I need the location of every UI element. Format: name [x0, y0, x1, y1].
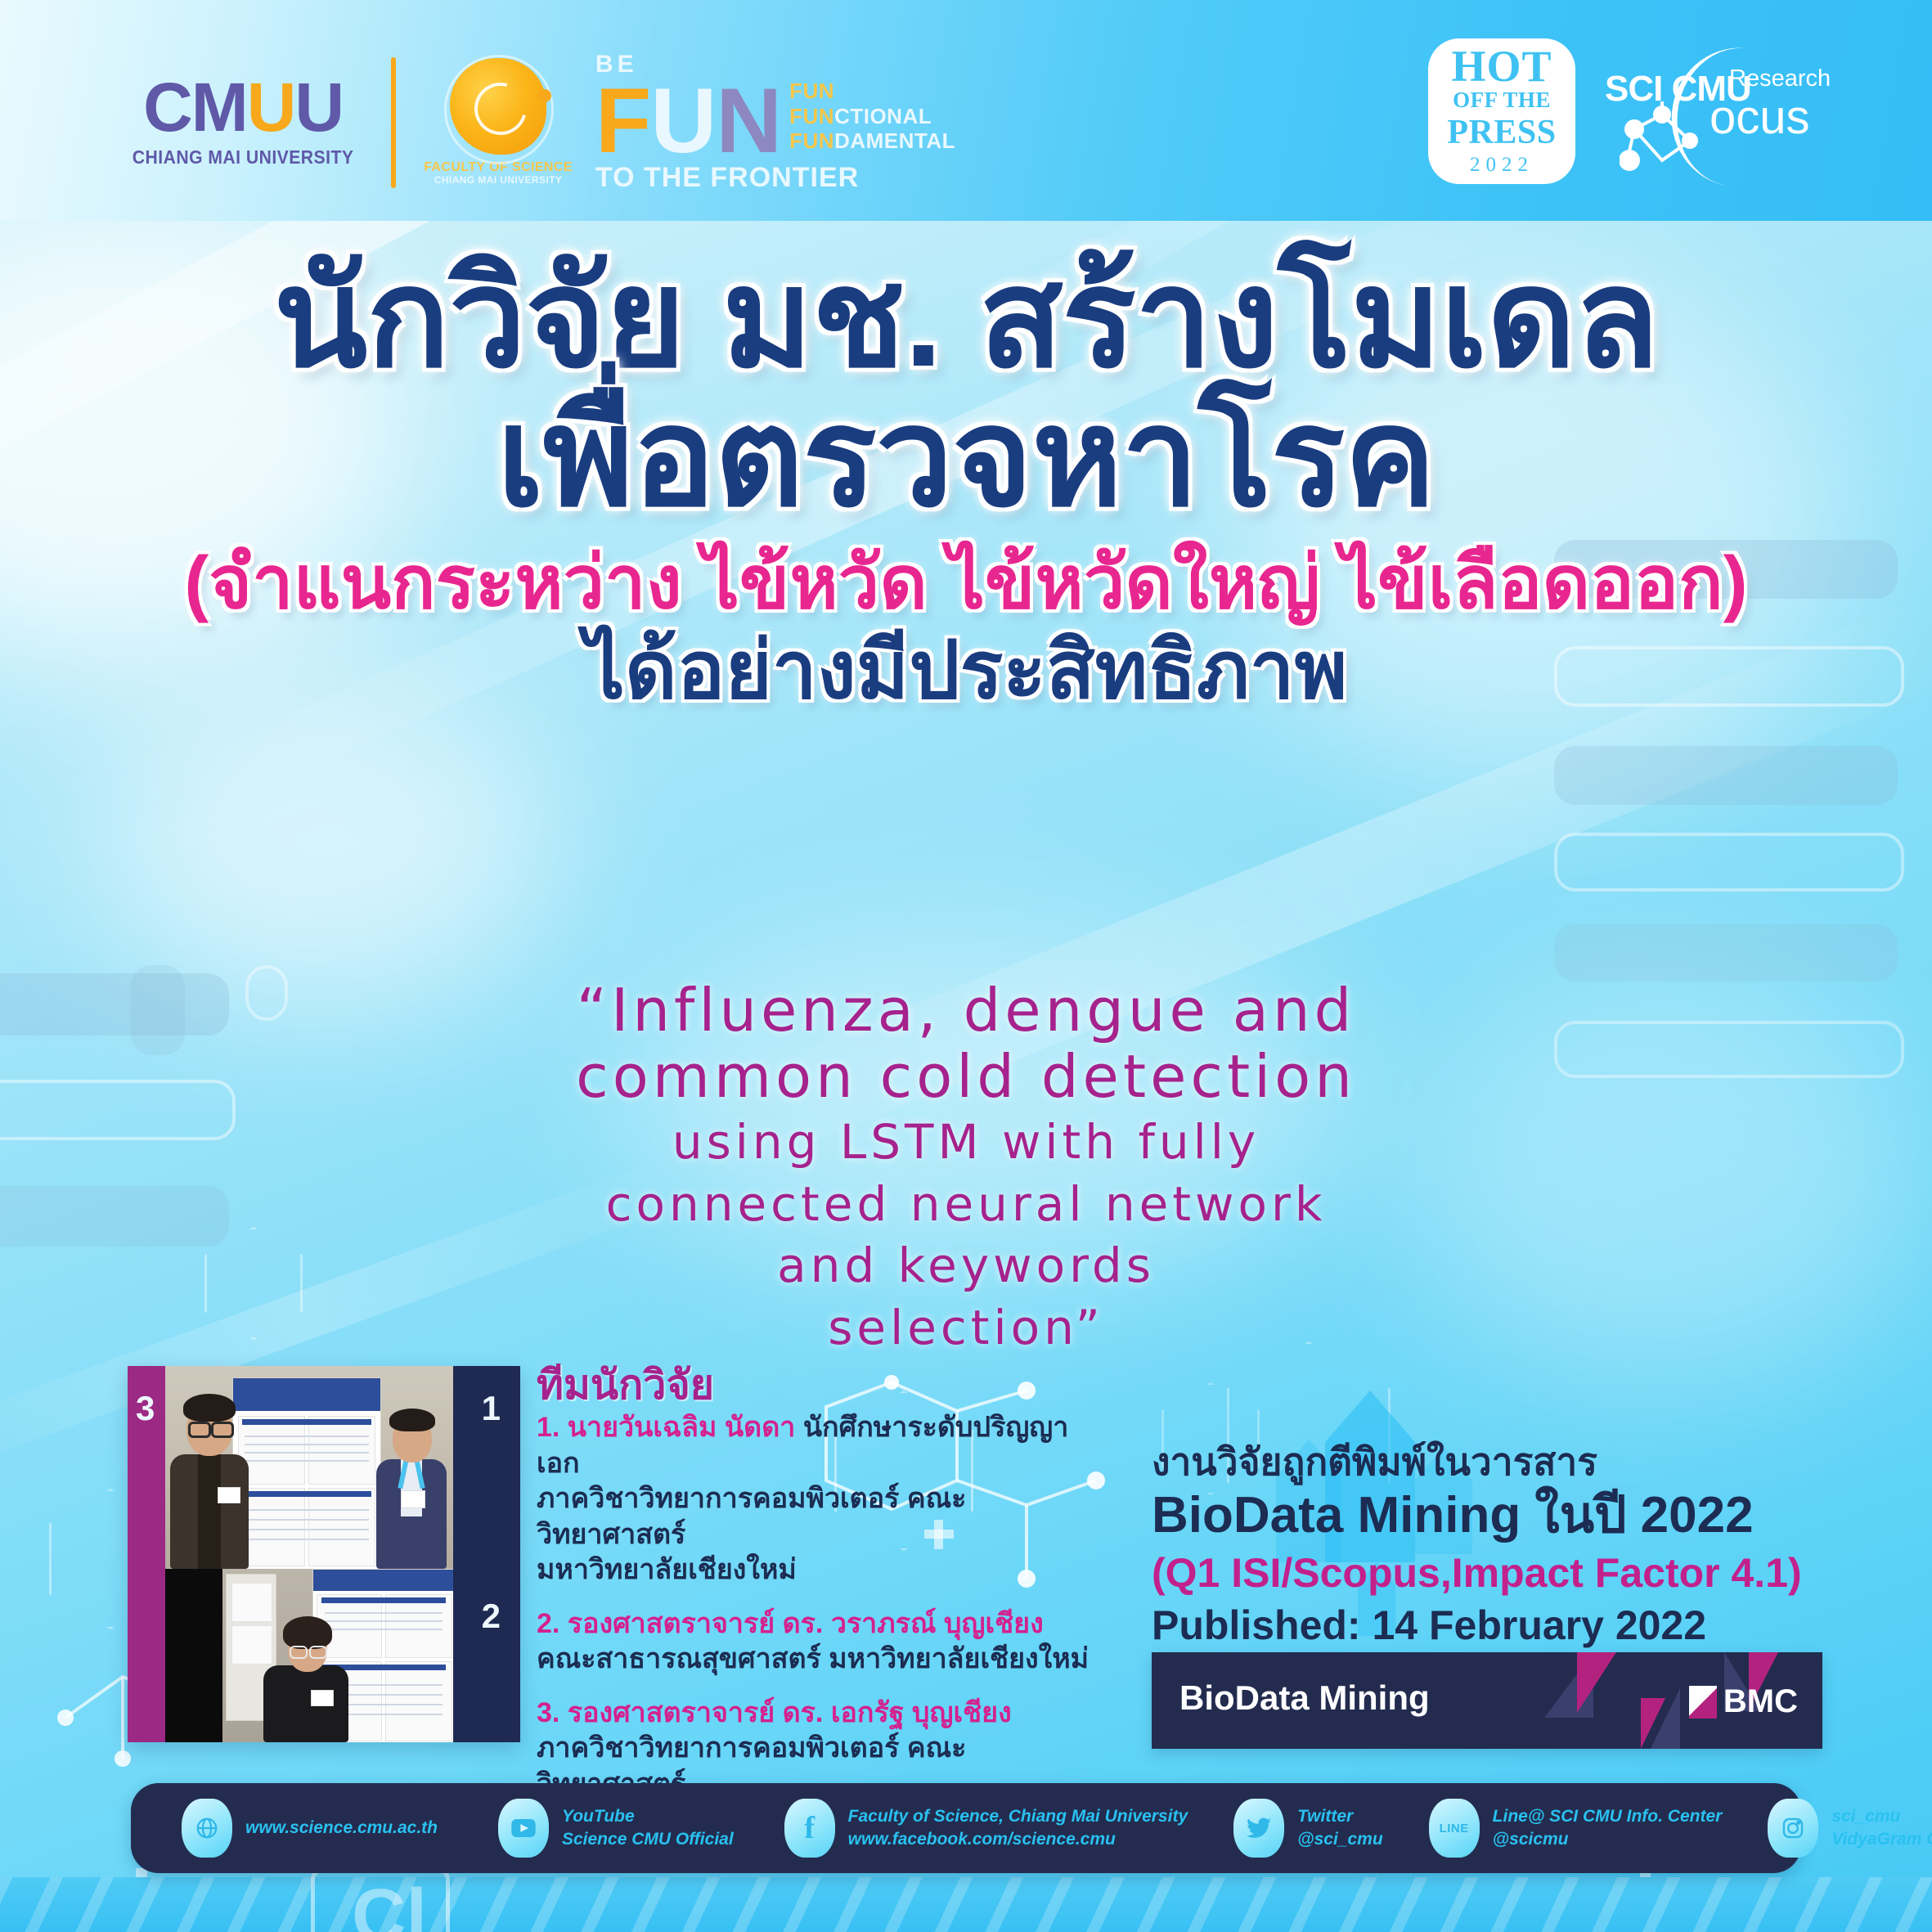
- poster-header: CMUU CHIANG MAI UNIVERSITY FACULTY OF SC…: [0, 0, 1932, 221]
- hot-line3: PRESS: [1447, 113, 1556, 152]
- journal-banner: BioData Mining BMC: [1152, 1652, 1822, 1749]
- line-text: Line@ SCI CMU Info. Center @scicmu: [1493, 1805, 1723, 1852]
- globe-icon: [182, 1799, 232, 1858]
- youtube-text: YouTube Science CMU Official: [562, 1805, 734, 1852]
- youtube-icon: [498, 1799, 549, 1858]
- paper-title-line-4: connected neural network: [0, 1176, 1932, 1233]
- paper-title-line-5: and keywords: [0, 1238, 1932, 1295]
- photo-researchers-1-and-3: [165, 1366, 453, 1569]
- bmc-mark-icon: [1689, 1686, 1717, 1719]
- journal-info-block: งานวิจัยถูกตีพิมพ์ในวารสาร BioData Minin…: [1152, 1440, 1822, 1650]
- member-1-name-role: 1. นายวันเฉลิม นัดดา นักศึกษาระดับปริญญา…: [537, 1410, 1093, 1481]
- journal-published-date: Published: 14 February 2022: [1152, 1601, 1822, 1650]
- orbit-dot-icon: [538, 89, 551, 102]
- cmu-logo: CMUU CHIANG MAI UNIVERSITY: [123, 76, 363, 168]
- member-2-affiliation-1: คณะสาธารณสุขศาสตร์ มหาวิทยาลัยเชียงใหม่: [537, 1642, 1093, 1678]
- footer-item-facebook[interactable]: f Faculty of Science, Chiang Mai Univers…: [784, 1799, 1188, 1858]
- paper-title-line-3: using LSTM with fully: [0, 1114, 1932, 1171]
- paper-title-english: “Influenza, dengue and common cold detec…: [0, 977, 1932, 1357]
- team-member-1: 1. นายวันเฉลิม นัดดา นักศึกษาระดับปริญญา…: [537, 1410, 1093, 1588]
- twitter-text: Twitter @sci_cmu: [1297, 1805, 1383, 1852]
- befun-tagline: TO THE FRONTIER: [595, 162, 955, 194]
- footer-item-line[interactable]: LINE Line@ SCI CMU Info. Center @scicmu: [1429, 1799, 1723, 1858]
- subtitle-pink: (จำแนกระหว่าง ไข้หวัด ไข้หวัดใหญ่ ไข้เลื…: [0, 543, 1932, 624]
- befun-logo: BE FUN FUN FUNCTIONAL FUNDAMENTAL TO THE…: [595, 51, 955, 194]
- headline-line-1: นักวิจัย มช. สร้างโมเดล: [273, 241, 1658, 395]
- journal-banner-name: BioData Mining: [1179, 1678, 1430, 1718]
- cmu-subtitle: CHIANG MAI UNIVERSITY: [133, 146, 354, 168]
- poster-root: Cl CMUU CHIANG MAI UNIVERSITY FACULTY OF…: [0, 0, 1932, 1932]
- hot-line2: OFF THE: [1453, 88, 1551, 113]
- logo-divider: [391, 57, 396, 188]
- facebook-icon: f: [784, 1799, 835, 1858]
- facebook-text: Faculty of Science, Chiang Mai Universit…: [848, 1805, 1188, 1852]
- footer-item-twitter[interactable]: Twitter @sci_cmu: [1233, 1799, 1383, 1858]
- header-logo-group: CMUU CHIANG MAI UNIVERSITY FACULTY OF SC…: [123, 51, 955, 194]
- sci-cmu-research-focus-logo: SCI CMU Research ocus: [1605, 38, 1842, 185]
- photo-researcher-2: [165, 1569, 453, 1742]
- collage-label-3: 3: [136, 1389, 155, 1428]
- team-heading: ทีมนักวิจัย: [537, 1364, 1093, 1405]
- header-badge-group: HOT OFF THE PRESS 2022: [1428, 38, 1842, 185]
- research-text: Research: [1729, 65, 1831, 92]
- researcher-photo-collage: 3 1 2: [128, 1366, 520, 1742]
- befun-words: FUN FUNCTIONAL FUNDAMENTAL: [789, 79, 955, 154]
- journal-line-1: งานวิจัยถูกตีพิมพ์ในวารสาร: [1152, 1440, 1822, 1484]
- member-1-affiliation-2: มหาวิทยาลัยเชียงใหม่: [537, 1552, 1093, 1588]
- member-2-name: 2. รองศาสตราจารย์ ดร. วราภรณ์ บุญเชียง: [537, 1606, 1093, 1642]
- faculty-of-science-logo: FACULTY OF SCIENCE CHIANG MAI UNIVERSITY: [424, 58, 573, 186]
- paper-title-line-6: selection”: [0, 1300, 1932, 1357]
- twitter-icon: [1233, 1799, 1284, 1858]
- member-3-name: 3. รองศาสตราจารย์ ดร. เอกรัฐ บุญเชียง: [537, 1696, 1093, 1732]
- headline-thai: นักวิจัย มช. สร้างโมเดล เพื่อตรวจหาโรค: [0, 245, 1932, 530]
- hot-off-the-press-badge: HOT OFF THE PRESS 2022: [1428, 38, 1575, 184]
- befun-wordmark: FUN: [595, 83, 781, 159]
- team-member-2: 2. รองศาสตราจารย์ ดร. วราภรณ์ บุญเชียง ค…: [537, 1606, 1093, 1678]
- title-block: นักวิจัย มช. สร้างโมเดล เพื่อตรวจหาโรค (…: [0, 245, 1932, 716]
- paper-title-line-2: common cold detection: [0, 1044, 1932, 1110]
- footer-item-instagram[interactable]: sci_cmu VidyaGram CMU: [1768, 1799, 1932, 1858]
- paper-title-line-1: “Influenza, dengue and: [0, 977, 1932, 1044]
- collage-label-2: 2: [482, 1597, 501, 1636]
- instagram-icon: [1768, 1799, 1818, 1858]
- journal-quartile-impact: (Q1 ISI/Scopus,Impact Factor 4.1): [1152, 1548, 1822, 1597]
- website-text: www.science.cmu.ac.th: [245, 1817, 438, 1840]
- research-team-block: ทีมนักวิจัย 1. นายวันเฉลิม นัดดา นักศึกษ…: [537, 1364, 1093, 1856]
- subtitle-navy: ได้อย่างมีประสิทธิภาพ: [0, 626, 1932, 716]
- footer-item-youtube[interactable]: YouTube Science CMU Official: [498, 1799, 734, 1858]
- member-1-affiliation-1: ภาควิชาวิทยาการคอมพิวเตอร์ คณะวิทยาศาสตร…: [537, 1481, 1093, 1552]
- bmc-text: BMC: [1723, 1683, 1798, 1720]
- focus-text: ocus: [1710, 90, 1810, 145]
- instagram-text: sci_cmu VidyaGram CMU: [1831, 1805, 1932, 1852]
- bmc-logo: BMC: [1689, 1683, 1798, 1720]
- line-icon: LINE: [1429, 1799, 1480, 1858]
- hot-line1: HOT: [1451, 46, 1552, 88]
- footer-item-website[interactable]: www.science.cmu.ac.th: [182, 1799, 438, 1858]
- collage-label-1: 1: [482, 1389, 501, 1428]
- social-footer: www.science.cmu.ac.th YouTube Science CM…: [131, 1783, 1801, 1873]
- hot-line4: 2022: [1470, 154, 1534, 177]
- journal-line-2: BioData Mining ในปี 2022: [1152, 1485, 1822, 1545]
- headline-line-2: เพื่อตรวจหาโรค: [0, 384, 1932, 530]
- cmu-wordmark: CMUU: [143, 76, 343, 139]
